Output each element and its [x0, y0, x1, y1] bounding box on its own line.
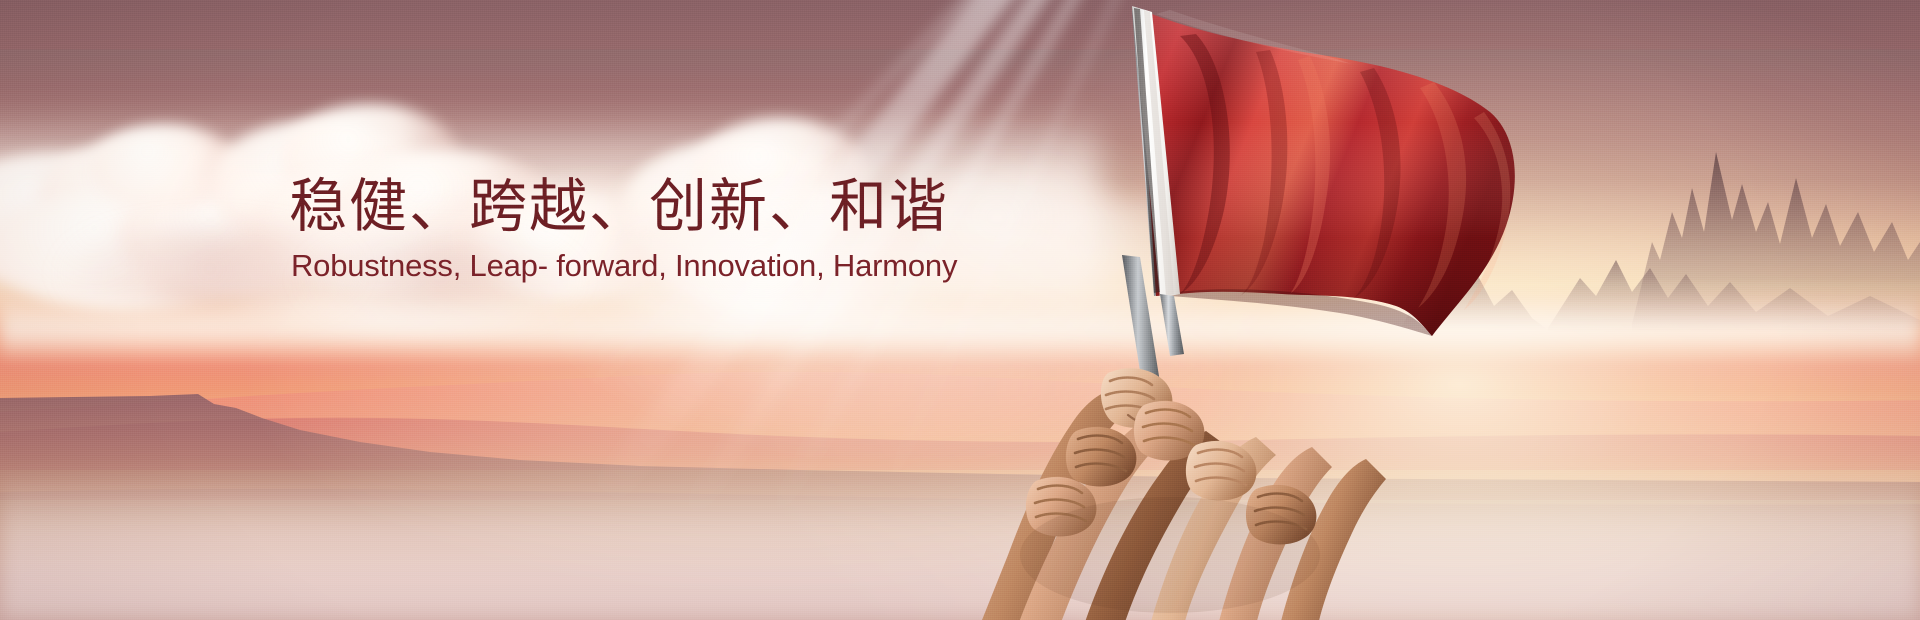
low-mist	[0, 470, 1920, 620]
page-title: 稳健、跨越、创新、和谐	[289, 178, 929, 236]
page-subtitle: Robustness, Leap- forward, Innovation, H…	[291, 250, 929, 281]
raised-hands-icon	[980, 255, 1400, 620]
banner-text-block: 稳健、跨越、创新、和谐 Robustness, Leap- forward, I…	[289, 178, 929, 281]
hero-banner: 稳健、跨越、创新、和谐 Robustness, Leap- forward, I…	[0, 0, 1920, 620]
